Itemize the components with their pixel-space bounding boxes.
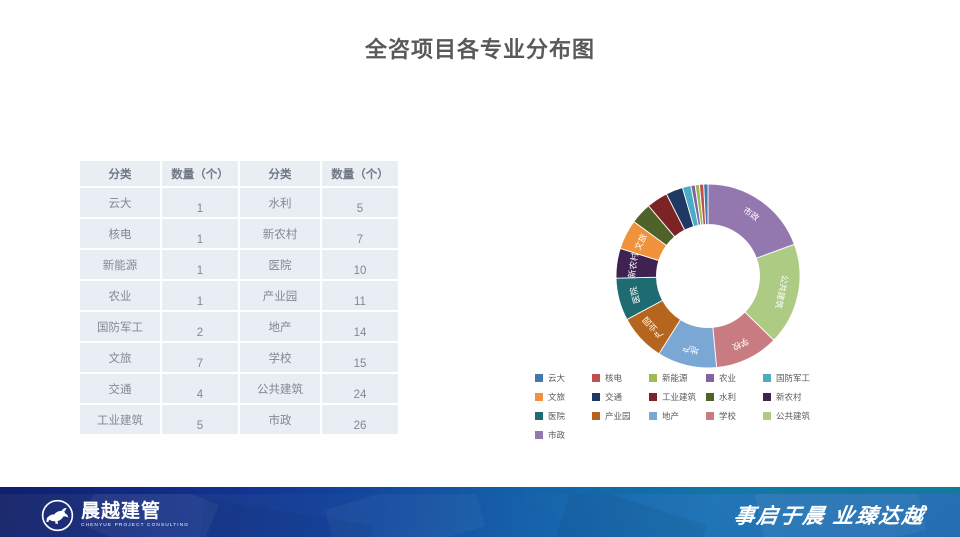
legend-item[interactable]: 公共建筑 [763,410,820,422]
legend-color-swatch-icon [706,412,714,420]
legend-item-label: 市政 [548,429,565,441]
legend-item[interactable]: 交通 [592,391,649,403]
legend-item[interactable]: 学校 [706,410,763,422]
col-header-category-right: 分类 [240,161,320,186]
legend-item[interactable]: 新能源 [649,372,706,384]
cell-count-right: 5 [322,188,398,217]
legend-color-swatch-icon [535,431,543,439]
legend-color-swatch-icon [535,393,543,401]
cell-count-right: 7 [322,219,398,248]
footer-facet-decoration [553,494,707,537]
legend-item[interactable]: 市政 [535,429,592,441]
cell-count-left: 4 [162,374,238,403]
cell-category-left: 新能源 [80,250,160,279]
cell-category-right: 市政 [240,405,320,434]
legend-item[interactable]: 水利 [706,391,763,403]
legend-item-label: 工业建筑 [662,391,696,403]
legend-item[interactable]: 地产 [649,410,706,422]
legend-item[interactable]: 医院 [535,410,592,422]
legend-item[interactable]: 产业园 [592,410,649,422]
col-header-count-right: 数量（个） [322,161,398,186]
legend-color-swatch-icon [763,374,771,382]
legend-item-label: 新农村 [776,391,802,403]
legend-item-label: 产业园 [605,410,631,422]
table-row: 工业建筑5市政26 [80,405,398,434]
legend-color-swatch-icon [592,393,600,401]
table-row: 云大1水利5 [80,188,398,217]
cell-category-right: 水利 [240,188,320,217]
distribution-table: 分类 数量（个） 分类 数量（个） 云大1水利5核电1新农村7新能源1医院10农… [78,159,400,436]
logo-name-cn: 晨越建管 [81,502,189,522]
table-body: 云大1水利5核电1新农村7新能源1医院10农业1产业园11国防军工2地产14文旅… [80,188,398,434]
cell-category-left: 核电 [80,219,160,248]
legend-item-label: 国防军工 [776,372,810,384]
slide-canvas: 全咨项目各专业分布图 分类 数量（个） 分类 数量（个） 云大1水利5核电1新农… [0,0,960,537]
chart-legend: 云大核电新能源农业国防军工文旅交通工业建筑水利新农村医院产业园地产学校公共建筑市… [535,372,875,448]
legend-color-swatch-icon [535,374,543,382]
cell-count-left: 1 [162,188,238,217]
logo-text: 晨越建管 CHENYUE PROJECT CONSULTING [81,502,189,529]
cell-category-right: 公共建筑 [240,374,320,403]
cell-count-left: 1 [162,250,238,279]
cell-category-right: 产业园 [240,281,320,310]
donut-chart: 市政公共建筑学校地产产业园医院新农村文旅 [603,182,813,370]
legend-item-label: 水利 [719,391,736,403]
legend-item-label: 公共建筑 [776,410,810,422]
legend-item[interactable]: 云大 [535,372,592,384]
cell-category-left: 文旅 [80,343,160,372]
legend-color-swatch-icon [649,393,657,401]
cell-category-right: 学校 [240,343,320,372]
footer-accent-strip [0,487,960,494]
table-row: 交通4公共建筑24 [80,374,398,403]
table-row: 文旅7学校15 [80,343,398,372]
legend-item-label: 学校 [719,410,736,422]
legend-item-label: 农业 [719,372,736,384]
table-row: 国防军工2地产14 [80,312,398,341]
legend-item[interactable]: 文旅 [535,391,592,403]
table-header: 分类 数量（个） 分类 数量（个） [80,161,398,186]
legend-color-swatch-icon [535,412,543,420]
cell-category-right: 地产 [240,312,320,341]
legend-color-swatch-icon [706,393,714,401]
cell-category-left: 云大 [80,188,160,217]
legend-item[interactable]: 国防军工 [763,372,820,384]
legend-color-swatch-icon [592,374,600,382]
cell-category-left: 工业建筑 [80,405,160,434]
legend-color-swatch-icon [763,412,771,420]
legend-item-label: 交通 [605,391,622,403]
cell-count-right: 24 [322,374,398,403]
cell-category-left: 农业 [80,281,160,310]
legend-color-swatch-icon [763,393,771,401]
legend-item[interactable]: 农业 [706,372,763,384]
footer-slogan: 事启于晨 业臻达越 [731,500,927,530]
table-row: 农业1产业园11 [80,281,398,310]
legend-item-label: 文旅 [548,391,565,403]
col-header-category-left: 分类 [80,161,160,186]
cell-category-left: 交通 [80,374,160,403]
company-logo: 晨越建管 CHENYUE PROJECT CONSULTING [41,499,189,532]
cell-category-right: 新农村 [240,219,320,248]
cell-count-left: 1 [162,281,238,310]
legend-color-swatch-icon [592,412,600,420]
logo-name-en: CHENYUE PROJECT CONSULTING [81,522,189,529]
cell-count-right: 11 [322,281,398,310]
cell-count-right: 14 [322,312,398,341]
legend-item-label: 地产 [662,410,679,422]
page-title: 全咨项目各专业分布图 [0,32,960,64]
cell-count-left: 5 [162,405,238,434]
chart-area: 市政公共建筑学校地产产业园医院新农村文旅 云大核电新能源农业国防军工文旅交通工业… [520,170,880,440]
cell-count-right: 15 [322,343,398,372]
table-header-row: 分类 数量（个） 分类 数量（个） [80,161,398,186]
table-row: 核电1新农村7 [80,219,398,248]
legend-item-label: 云大 [548,372,565,384]
donut-chart-svg: 市政公共建筑学校地产产业园医院新农村文旅 [603,182,813,370]
cell-count-right: 10 [322,250,398,279]
legend-color-swatch-icon [649,374,657,382]
table-row: 新能源1医院10 [80,250,398,279]
cell-category-left: 国防军工 [80,312,160,341]
legend-color-swatch-icon [649,412,657,420]
legend-item-label: 新能源 [662,372,688,384]
legend-color-swatch-icon [706,374,714,382]
cell-count-left: 1 [162,219,238,248]
cell-count-right: 26 [322,405,398,434]
donut-slice[interactable] [708,184,794,258]
col-header-count-left: 数量（个） [162,161,238,186]
legend-item[interactable]: 新农村 [763,391,820,403]
legend-item-label: 医院 [548,410,565,422]
cell-category-right: 医院 [240,250,320,279]
legend-item-label: 核电 [605,372,622,384]
horse-emblem-icon [41,499,74,532]
cell-count-left: 7 [162,343,238,372]
cell-count-left: 2 [162,312,238,341]
legend-item[interactable]: 核电 [592,372,649,384]
legend-item[interactable]: 工业建筑 [649,391,706,403]
